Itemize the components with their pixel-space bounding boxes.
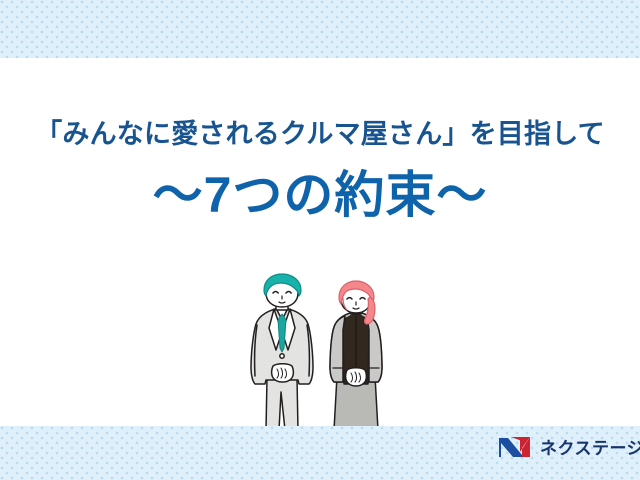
headline-block: 「みんなに愛されるクルマ屋さん」を目指して 〜7つの約束〜 (0, 118, 640, 225)
top-dotted-band (0, 0, 640, 58)
headline-main-text: 「みんなに愛されるクルマ屋さん」を目指して (0, 118, 640, 152)
two-bowing-staff-illustration (236, 272, 416, 430)
headline-sub-text: 〜7つの約束〜 (0, 166, 640, 225)
nextage-logo-text: ネクステージ (540, 434, 640, 459)
male-staff-figure (251, 274, 313, 430)
nextage-logo: ネクステージ (498, 434, 640, 459)
staff-illustration-svg (236, 272, 416, 430)
nextage-n-mark-icon (498, 435, 532, 459)
promise-banner: 「みんなに愛されるクルマ屋さん」を目指して 〜7つの約束〜 (0, 0, 640, 480)
female-staff-figure (330, 281, 382, 430)
